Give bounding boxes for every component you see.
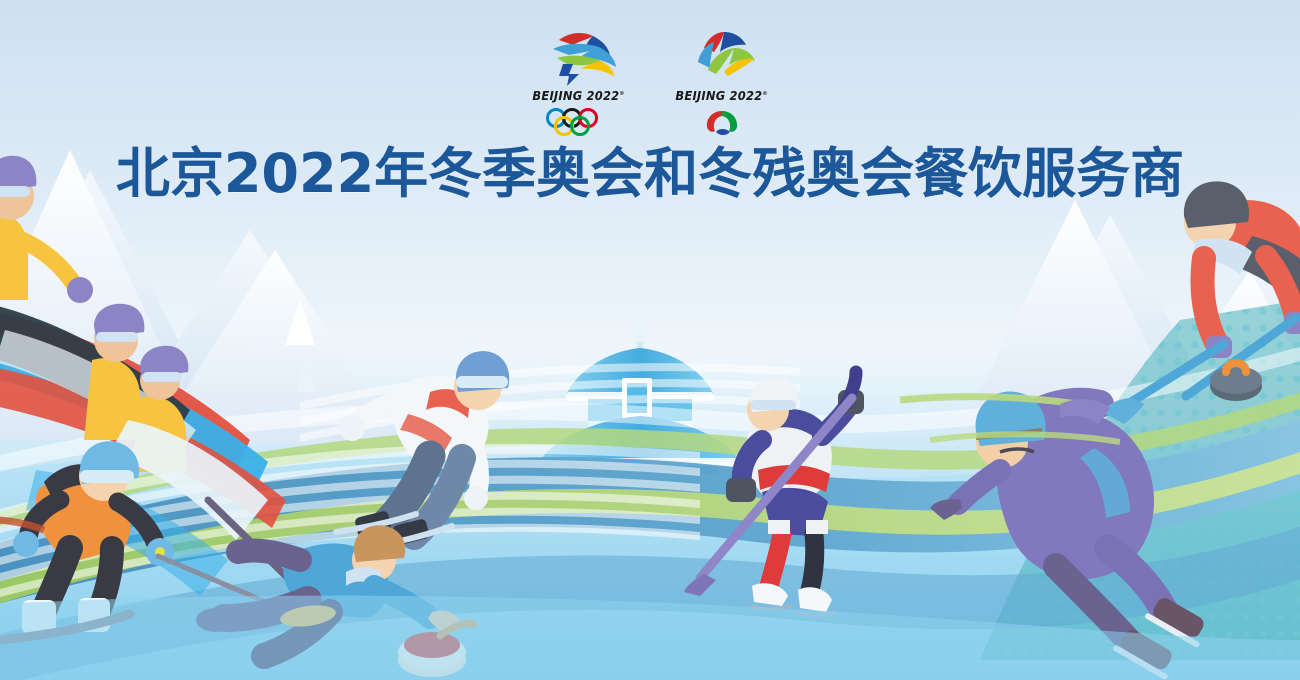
olympic-wordmark: BEIJING 2022®: [532, 89, 624, 104]
olympic-rings-icon: [543, 107, 615, 137]
paralympic-emblem: BEIJING 2022®: [674, 28, 769, 137]
page-title: 北京2022年冬季奥会和冬残奥会餐饮服务商: [0, 143, 1300, 205]
emblem-row: BEIJING 2022®: [0, 28, 1300, 137]
paralympic-emblem-mark: [682, 28, 762, 86]
paralympic-wordmark: BEIJING 2022®: [675, 89, 767, 104]
olympic-emblem-mark: [539, 28, 619, 86]
beijing-2022-catering-banner: BEIJING 2022®: [0, 0, 1300, 680]
agitos-icon: [694, 107, 750, 137]
olympic-emblem: BEIJING 2022®: [531, 28, 626, 137]
